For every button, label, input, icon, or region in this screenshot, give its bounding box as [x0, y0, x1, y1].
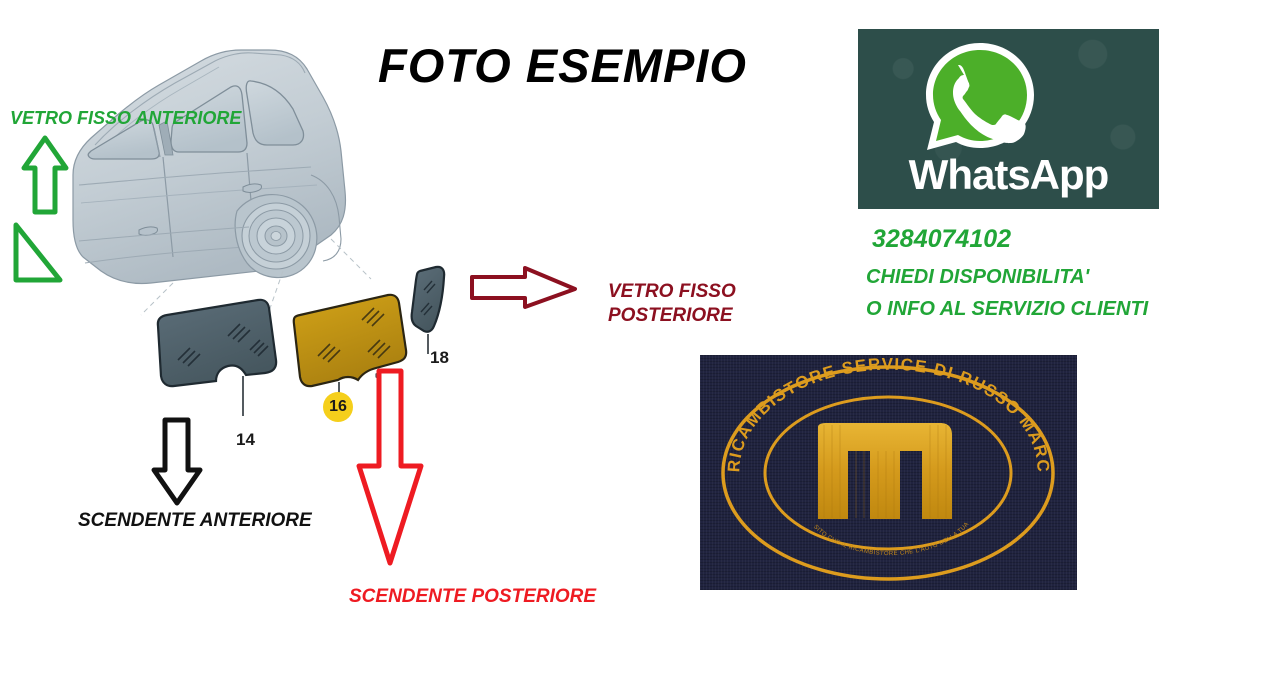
whatsapp-info-line-2: O INFO AL SERVIZIO CLIENTI: [866, 298, 1148, 321]
whatsapp-info-line-1: CHIEDI DISPONIBILITA': [866, 266, 1089, 289]
logo-monogram: [818, 423, 952, 519]
shop-logo: MRICAMBISTORE SERVICE DI RUSSO MARCO IL …: [700, 355, 1077, 590]
glass-part-18: [412, 267, 445, 332]
label-scendente-posteriore: SCENDENTE POSTERIORE: [349, 586, 596, 608]
whatsapp-wordmark: WhatsApp: [858, 151, 1159, 199]
part-number-18: 18: [430, 348, 449, 368]
glass-part-14: [158, 300, 276, 386]
label-vetro-fisso-posteriore-line1: VETRO FISSO: [608, 280, 736, 304]
label-vetro-fisso-posteriore-line2: POSTERIORE: [608, 304, 736, 328]
whatsapp-banner: WhatsApp: [858, 29, 1159, 209]
glass-part-16: [294, 295, 406, 386]
label-scendente-anteriore: SCENDENTE ANTERIORE: [78, 510, 312, 532]
poster-canvas: 14 16 17 18 FOT: [0, 0, 1264, 678]
whatsapp-icon: [920, 37, 1040, 157]
page-title: FOTO ESEMPIO: [378, 38, 747, 93]
part-number-17: 17: [378, 396, 397, 416]
green-triangle-icon: [16, 225, 60, 280]
label-vetro-fisso-posteriore: VETRO FISSO POSTERIORE: [608, 280, 736, 328]
part-number-14: 14: [236, 430, 255, 450]
part-number-16-badge: 16: [323, 392, 353, 422]
whatsapp-phone-number[interactable]: 3284074102: [872, 225, 1011, 254]
label-vetro-fisso-anteriore: VETRO FISSO ANTERIORE: [10, 108, 241, 129]
